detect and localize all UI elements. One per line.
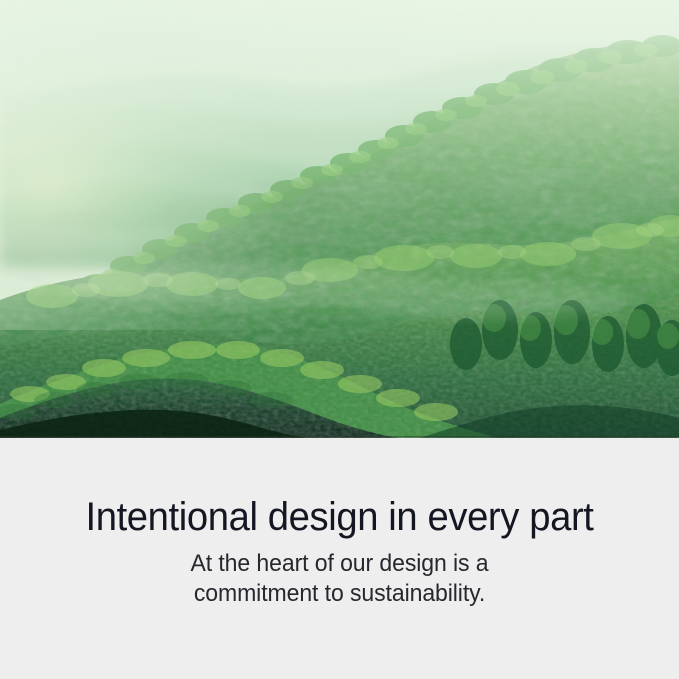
page-title: Intentional design in every part bbox=[15, 494, 663, 540]
page-subtitle-line-2: commitment to sustainability. bbox=[14, 579, 666, 609]
page-subtitle: At the heart of our design is a commitme… bbox=[14, 540, 666, 609]
promo-card: Intentional design in every part At the … bbox=[0, 0, 679, 679]
hero-image bbox=[0, 0, 679, 438]
page-subtitle-line-1: At the heart of our design is a bbox=[14, 549, 666, 579]
forest-landscape-illustration bbox=[0, 0, 679, 438]
caption-panel: Intentional design in every part At the … bbox=[0, 438, 679, 679]
